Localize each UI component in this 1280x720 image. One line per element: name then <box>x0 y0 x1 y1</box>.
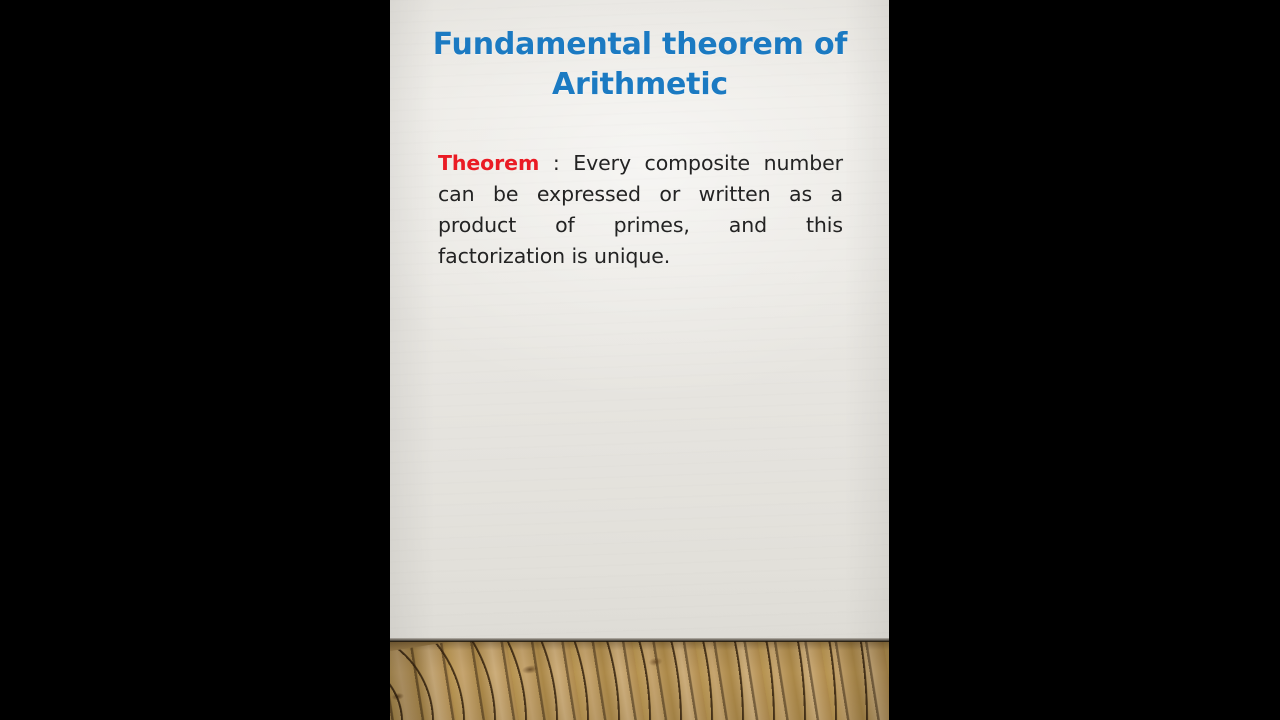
theorem-separator: : <box>539 151 573 175</box>
floor-nail-dots <box>390 641 889 720</box>
page-title-line-1: Fundamental theorem of <box>430 25 850 65</box>
page-title-line-2: Arithmetic <box>430 65 850 105</box>
wooden-floor <box>390 641 889 720</box>
pillarbox-left <box>0 0 390 720</box>
page-title: Fundamental theorem of Arithmetic <box>430 25 850 105</box>
theorem-paragraph: Theorem : Every composite number can be … <box>438 148 843 272</box>
theorem-block: Theorem : Every composite number can be … <box>438 148 843 272</box>
video-frame: Fundamental theorem of Arithmetic Theore… <box>0 0 1280 720</box>
theorem-label: Theorem <box>438 151 539 175</box>
slide-content: Fundamental theorem of Arithmetic Theore… <box>390 0 889 641</box>
wall-floor-seam <box>390 638 889 642</box>
pillarbox-right <box>889 0 1280 720</box>
slide-surface: Fundamental theorem of Arithmetic Theore… <box>390 0 889 720</box>
